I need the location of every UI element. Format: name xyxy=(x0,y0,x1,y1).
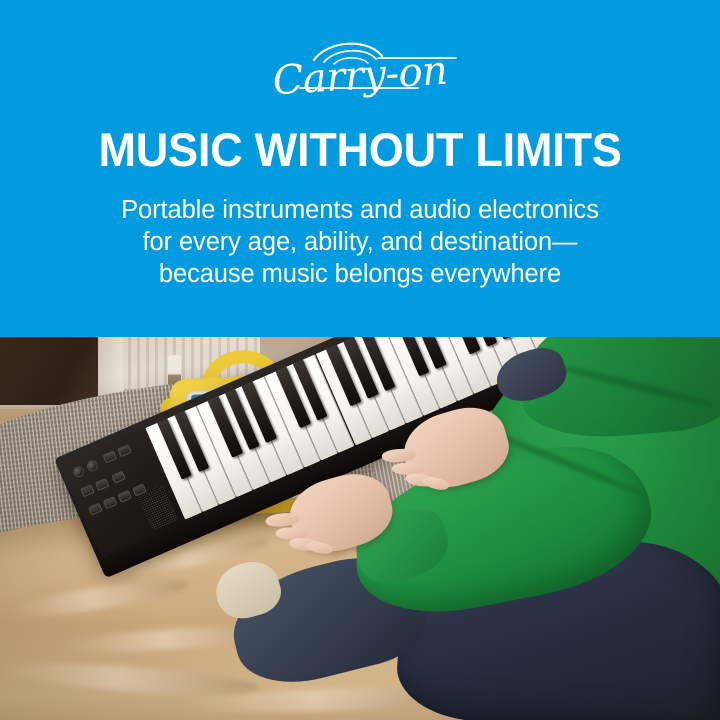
brand-logo: Carry-on xyxy=(0,30,720,108)
lifestyle-photo: Play the following notes 𝄞 𝄞 xyxy=(0,337,720,720)
tone-knob[interactable] xyxy=(85,459,99,473)
page-title: MUSIC WITHOUT LIMITS xyxy=(14,126,705,174)
banner-header: Carry-on MUSIC WITHOUT LIMITS Portable i… xyxy=(0,0,720,337)
tempo-button[interactable] xyxy=(111,471,126,484)
subtitle-line-3: because music belongs everywhere xyxy=(0,258,720,290)
rhythm-button[interactable] xyxy=(95,478,110,491)
volume-knob[interactable] xyxy=(71,465,85,479)
subtitle-line-1: Portable instruments and audio electroni… xyxy=(0,194,720,226)
promo-banner-page: Carry-on MUSIC WITHOUT LIMITS Portable i… xyxy=(0,0,720,720)
sustain-button[interactable] xyxy=(117,490,132,503)
logo-wordmark: Carry-on xyxy=(272,51,449,102)
play-button[interactable] xyxy=(103,451,118,464)
page-subtitle: Portable instruments and audio electroni… xyxy=(0,194,720,290)
chord-button[interactable] xyxy=(103,496,118,509)
demo-button[interactable] xyxy=(80,484,95,497)
record-button[interactable] xyxy=(117,444,132,457)
subtitle-line-2: for every age, ability, and destination— xyxy=(0,226,720,258)
voice-button[interactable] xyxy=(88,503,103,516)
doorway-dark xyxy=(0,337,108,405)
